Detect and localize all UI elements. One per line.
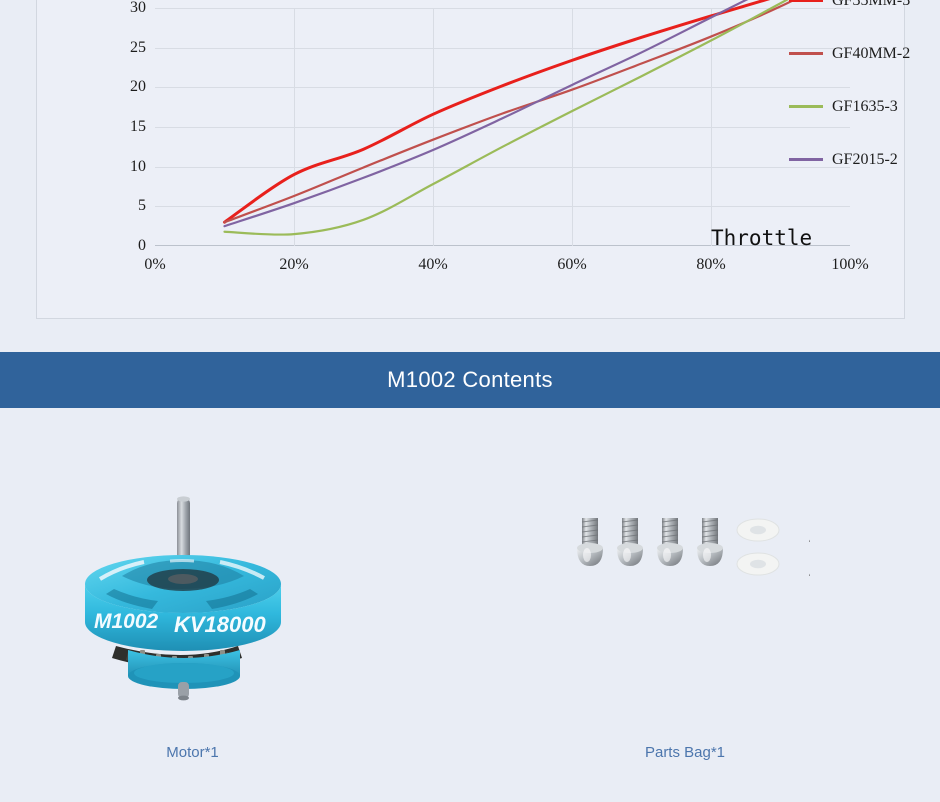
x-tick-label: 20% <box>279 256 308 274</box>
chart-line-GF1635-3 <box>225 0 851 235</box>
section-title: M1002 Contents <box>387 367 553 393</box>
legend-swatch-icon <box>789 0 823 2</box>
parts-bag-caption: Parts Bag*1 <box>560 744 810 761</box>
chart-line-GF40MM-2 <box>225 0 851 222</box>
legend-item: GF2015-2 <box>789 133 939 186</box>
legend-swatch-icon <box>789 52 823 55</box>
x-tick-label: 80% <box>696 256 725 274</box>
parts-illustration <box>560 480 810 712</box>
x-tick-label: 40% <box>418 256 447 274</box>
legend-item: GF35MM-3 <box>789 0 939 27</box>
legend-label: GF2015-2 <box>832 151 898 169</box>
legend-label: GF35MM-3 <box>832 0 910 10</box>
motor-kv-text: KV18000 <box>174 612 267 637</box>
white-washer-icon <box>737 519 779 541</box>
y-tick-label: 25 <box>130 39 146 57</box>
x-tick-label: 100% <box>831 256 868 274</box>
y-tick-label: 0 <box>138 237 146 255</box>
motor-illustration: M1002 KV18000 <box>70 480 315 712</box>
motor-image: M1002 KV18000 <box>70 480 315 712</box>
content-item-parts-bag: Parts Bag*1 <box>560 480 810 712</box>
parts-bag-image <box>560 480 810 712</box>
chart-plot-area: 30 25 20 15 10 5 0 0% 20% 40% 60% 80% 10… <box>155 8 850 246</box>
legend-label: GF1635-3 <box>832 98 898 116</box>
x-axis-title: Throttle <box>711 226 812 250</box>
motor-model-text: M1002 <box>94 610 159 633</box>
x-tick-label: 60% <box>557 256 586 274</box>
chart-panel: 30 25 20 15 10 5 0 0% 20% 40% 60% 80% 10… <box>36 0 905 319</box>
e-clip-icon <box>809 518 810 542</box>
chart-line-GF35MM-3 <box>225 0 851 222</box>
y-tick-label: 30 <box>130 0 146 17</box>
section-banner: M1002 Contents <box>0 352 940 408</box>
legend-item: GF1635-3 <box>789 80 939 133</box>
y-tick-label: 10 <box>130 158 146 176</box>
y-tick-label: 5 <box>138 197 146 215</box>
screw-icon <box>577 518 603 566</box>
legend-item: GF40MM-2 <box>789 27 939 80</box>
y-tick-label: 15 <box>130 118 146 136</box>
content-item-motor: M1002 KV18000 <box>70 480 315 712</box>
x-tick-label: 0% <box>144 256 165 274</box>
chart-line-GF2015-2 <box>225 0 851 226</box>
chart-series-lines <box>155 8 850 246</box>
screw-icon <box>617 518 643 566</box>
screw-icon <box>697 518 723 566</box>
e-clip-icon <box>809 552 810 576</box>
white-washer-icon <box>737 553 779 575</box>
legend-swatch-icon <box>789 158 823 161</box>
product-page: 30 25 20 15 10 5 0 0% 20% 40% 60% 80% 10… <box>0 0 940 802</box>
legend-swatch-icon <box>789 105 823 108</box>
legend-label: GF40MM-2 <box>832 45 910 63</box>
thrust-chart-section: 30 25 20 15 10 5 0 0% 20% 40% 60% 80% 10… <box>0 0 940 352</box>
y-tick-label: 20 <box>130 78 146 96</box>
motor-caption: Motor*1 <box>70 744 315 761</box>
screw-icon <box>657 518 683 566</box>
chart-legend: GF35MM-3 GF40MM-2 GF1635-3 GF2015-2 <box>789 0 939 186</box>
package-contents: M1002 KV18000 <box>0 408 940 802</box>
